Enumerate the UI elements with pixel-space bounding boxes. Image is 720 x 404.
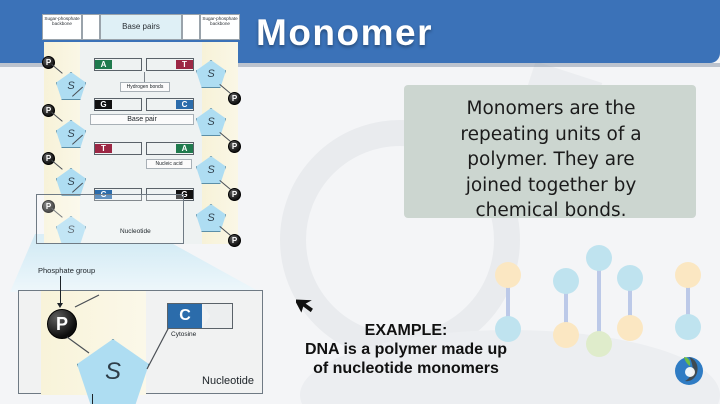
page-title: Monomer — [256, 12, 433, 54]
base-row-1-left: A — [94, 58, 142, 71]
detail-base-tail — [202, 304, 232, 328]
dna-double-helix-diagram: Sugar-phosphate backbone Base pairs Suga… — [34, 12, 249, 244]
molecule-dot-bottom — [675, 314, 701, 340]
callout-hydrogen-bonds — [144, 72, 145, 82]
molecule-decoration-4 — [617, 265, 643, 345]
base-row-1-right: T — [146, 58, 194, 71]
label-hydrogen-bonds: Hydrogen bonds — [120, 82, 170, 92]
example-block: EXAMPLE: DNA is a polymer made up of nuc… — [262, 322, 550, 378]
arrow-cursor-icon — [296, 292, 318, 321]
phosphate-left-3: P — [42, 152, 55, 165]
definition-text: Monomers are the repeating units of a po… — [412, 96, 690, 224]
molecule-decoration-2 — [553, 268, 579, 348]
header-gap-right — [182, 14, 200, 40]
label-phosphate-group: Phosphate group — [38, 266, 95, 275]
molecule-dot-top — [495, 262, 521, 288]
molecule-dot-top — [675, 262, 701, 288]
molecule-dot-top — [553, 268, 579, 294]
molecule-dot-top — [586, 245, 612, 271]
label-cytosine: Cytosine — [171, 331, 196, 338]
detail-bottom-pointer — [92, 394, 93, 404]
base-letter-G-1: G — [95, 100, 112, 109]
header-backbone-left: Sugar-phosphate backbone — [42, 14, 82, 40]
label-nucleotide-small: Nucleotide — [120, 228, 151, 235]
phosphate-right-1: P — [228, 92, 241, 105]
base-row-2-left: G — [94, 98, 142, 111]
base-letter-T-2: T — [95, 144, 112, 153]
nucleotide-detail-panel: P S C Cytosine Nucleotide — [18, 290, 263, 394]
base-letter-T-1: T — [176, 60, 193, 69]
phosphate-right-4: P — [228, 234, 241, 247]
molecule-dot-top — [617, 265, 643, 291]
label-base-pair: Base pair — [90, 114, 194, 125]
phosphate-right-3: P — [228, 188, 241, 201]
molecule-dot-bottom — [553, 322, 579, 348]
base-letter-A-2: A — [176, 144, 193, 153]
molecule-dot-bottom — [586, 331, 612, 357]
base-letter-A-1: A — [95, 60, 112, 69]
molecule-decoration-5 — [675, 262, 701, 342]
phosphate-left-2: P — [42, 104, 55, 117]
base-row-3-right: A — [146, 142, 194, 155]
phosphate-right-2: P — [228, 140, 241, 153]
header-backbone-right: Sugar-phosphate backbone — [200, 14, 240, 40]
example-heading: EXAMPLE: — [262, 322, 550, 340]
header-base-pairs: Base pairs — [100, 14, 182, 40]
phosphate-left-1: P — [42, 56, 55, 69]
example-line-2: of nucleotide monomers — [262, 359, 550, 378]
base-row-2-right: C — [146, 98, 194, 111]
biology-online-logo[interactable] — [672, 353, 706, 392]
molecule-decoration-3 — [586, 245, 612, 355]
phosphate-group-pointer — [60, 276, 61, 304]
base-row-3-left: T — [94, 142, 142, 155]
label-nucleotide-detail: Nucleotide — [202, 375, 254, 387]
label-nucleic-acid: Nucleic acid — [146, 159, 192, 169]
detail-base-cytosine: C — [167, 303, 233, 329]
detail-base-letter: C — [168, 304, 202, 328]
header-gap-left — [82, 14, 100, 40]
base-letter-C-1: C — [176, 100, 193, 109]
example-line-1: DNA is a polymer made up — [262, 340, 550, 359]
nucleotide-highlight-box — [36, 194, 184, 244]
molecule-dot-bottom — [617, 315, 643, 341]
